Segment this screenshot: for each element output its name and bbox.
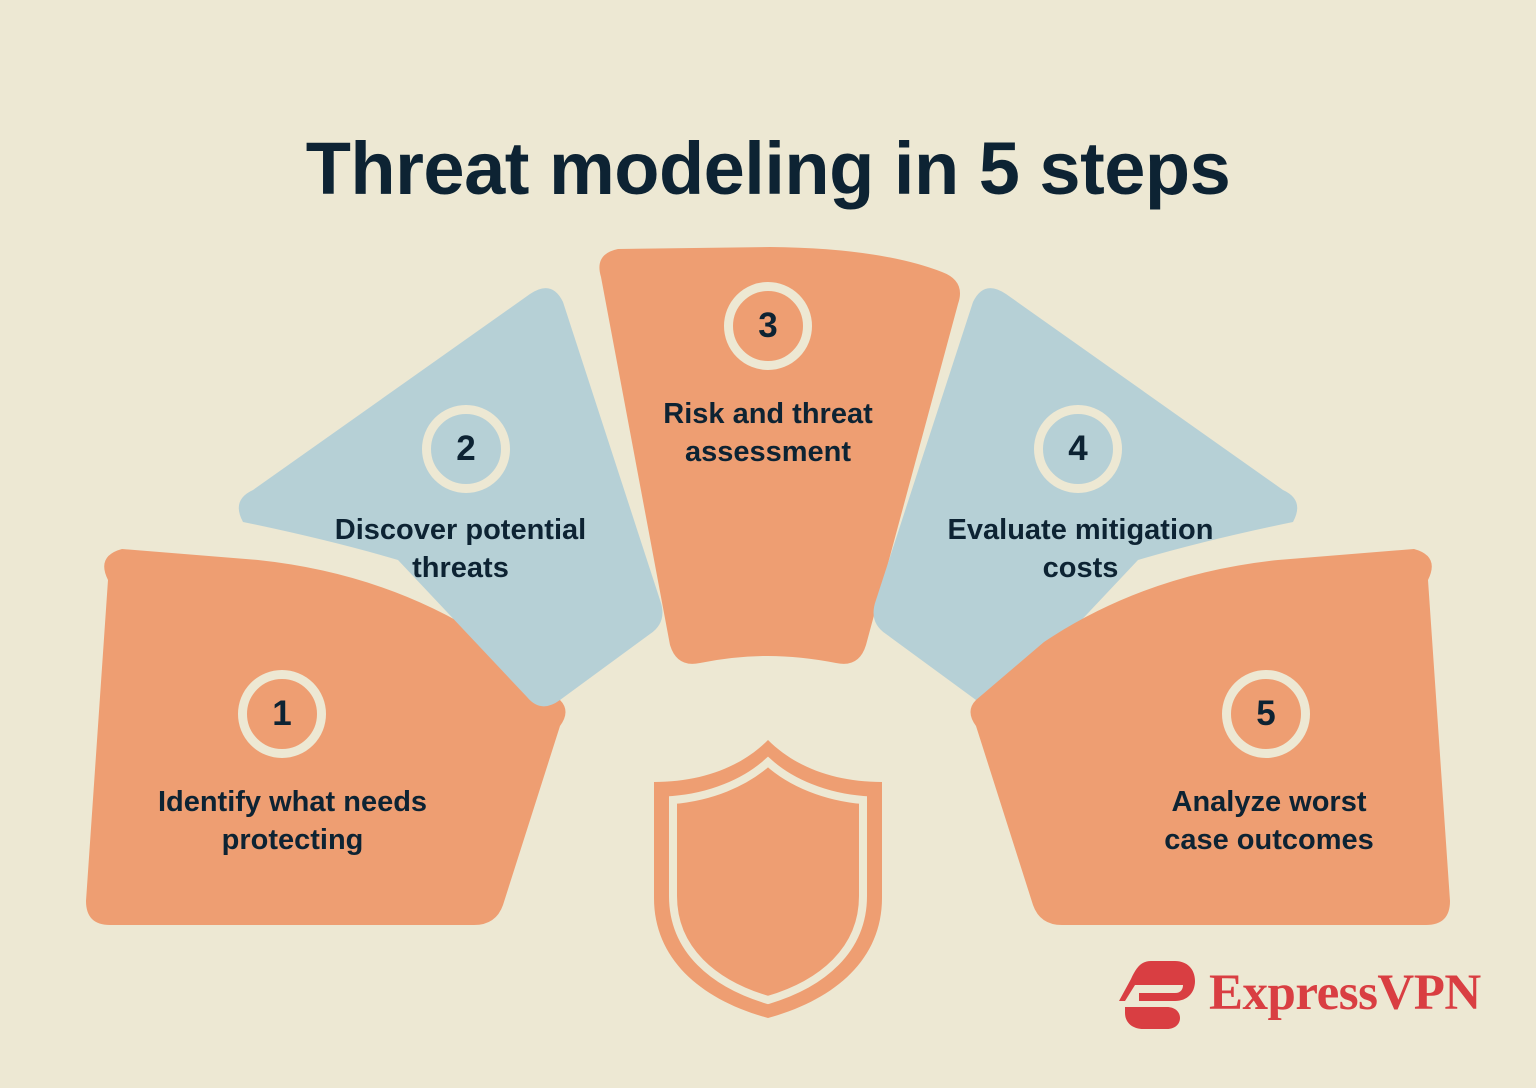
- step-badge-4[interactable]: 4: [1034, 405, 1122, 493]
- expressvpn-logo[interactable]: ExpressVPN: [1117, 957, 1481, 1029]
- step-number-3: 3: [758, 306, 777, 346]
- expressvpn-e-mark-icon: [1117, 957, 1195, 1029]
- step-number-5: 5: [1256, 694, 1275, 734]
- step-badge-2[interactable]: 2: [422, 405, 510, 493]
- step-number-4: 4: [1068, 429, 1087, 469]
- expressvpn-wordmark: ExpressVPN: [1209, 968, 1481, 1019]
- shield-icon: [654, 740, 882, 1018]
- step-badge-5[interactable]: 5: [1222, 670, 1310, 758]
- step-number-1: 1: [272, 694, 291, 734]
- infographic-canvas: Threat modeling in 5 steps 1 2 3 4 5: [0, 0, 1536, 1088]
- step-number-2: 2: [456, 429, 475, 469]
- fan-diagram: [0, 0, 1536, 1088]
- step-badge-3[interactable]: 3: [724, 282, 812, 370]
- step-badge-1[interactable]: 1: [238, 670, 326, 758]
